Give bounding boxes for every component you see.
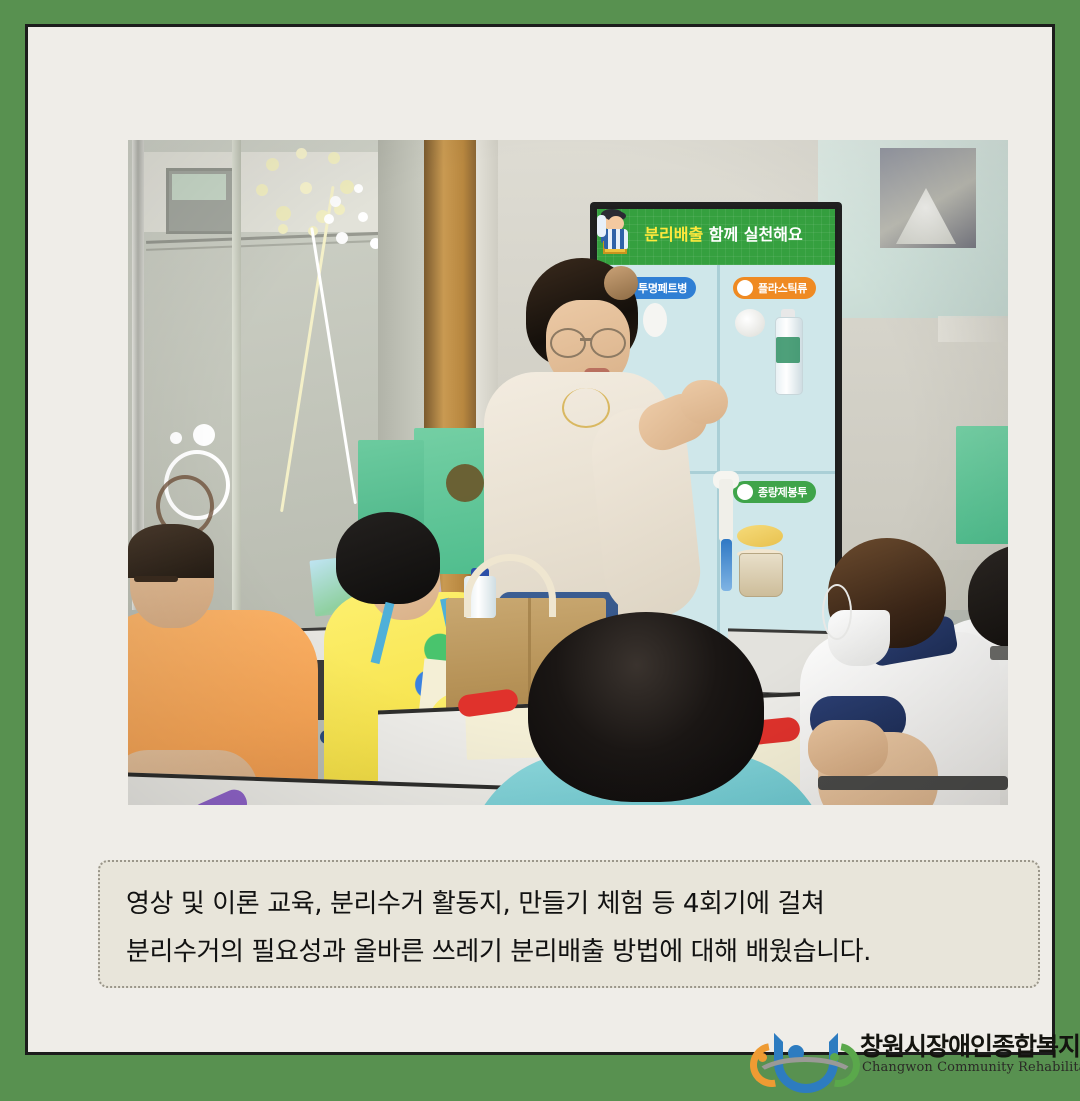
photo-vignette: [128, 140, 1008, 805]
poster-root: 오감 체험 자원순환 | 한국생태환경연구: [0, 0, 1080, 1080]
caption-line-1: 영상 및 이론 교육, 분리수거 활동지, 만들기 체험 등 4회기에 걸쳐: [126, 880, 1012, 928]
caption-line-2: 분리수거의 필요성과 올바른 쓰레기 분리배출 방법에 대해 배웠습니다.: [126, 928, 1012, 976]
activity-photo: 오감 체험 자원순환 | 한국생태환경연구: [128, 140, 1008, 805]
logo-mark-icon: [750, 1031, 852, 1077]
logo-swoosh: [752, 1057, 858, 1101]
logo-head-orange: [758, 1053, 767, 1062]
organization-logo: 창원시장애인종합복지관 Changwon Community Rehabilit…: [750, 1027, 1050, 1083]
poster-card: 오감 체험 자원순환 | 한국생태환경연구: [25, 24, 1055, 1055]
caption-box: 영상 및 이론 교육, 분리수거 활동지, 만들기 체험 등 4회기에 걸쳐 분…: [98, 860, 1040, 988]
logo-korean-name: 창원시장애인종합복지관: [860, 1027, 1080, 1063]
logo-english-name: Changwon Community Rehabilitation Center: [862, 1060, 1080, 1075]
